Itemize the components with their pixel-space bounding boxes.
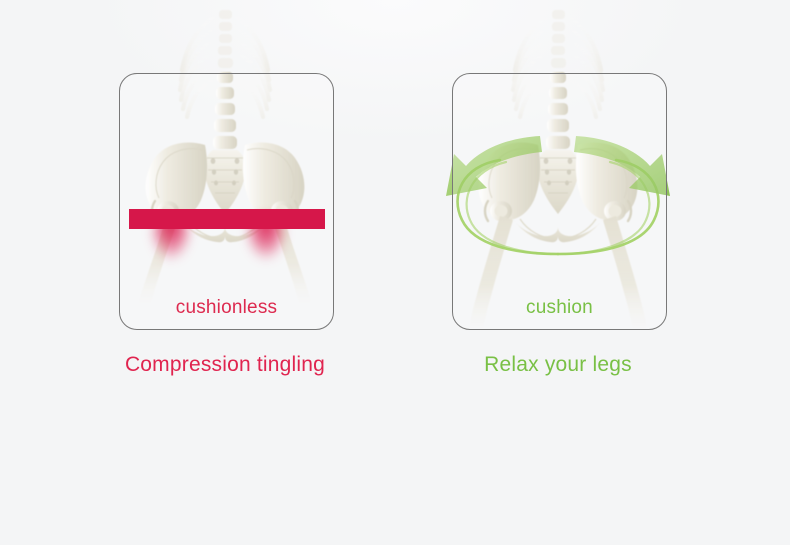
panel-group: cushionless Compression tingling	[0, 0, 790, 420]
card-label-cushionless: cushionless	[119, 297, 334, 319]
panel-cushionless: cushionless Compression tingling	[55, 0, 395, 400]
caption-cushion: Relax your legs	[388, 353, 728, 377]
panel-cushion: cushion Relax your legs	[388, 0, 728, 400]
comparison-graphic: cushionless Compression tingling	[0, 0, 790, 545]
card-label-cushion: cushion	[452, 297, 667, 319]
card-frame-cushionless	[119, 73, 334, 330]
card-frame-cushion	[452, 73, 667, 330]
caption-cushionless: Compression tingling	[55, 353, 395, 377]
